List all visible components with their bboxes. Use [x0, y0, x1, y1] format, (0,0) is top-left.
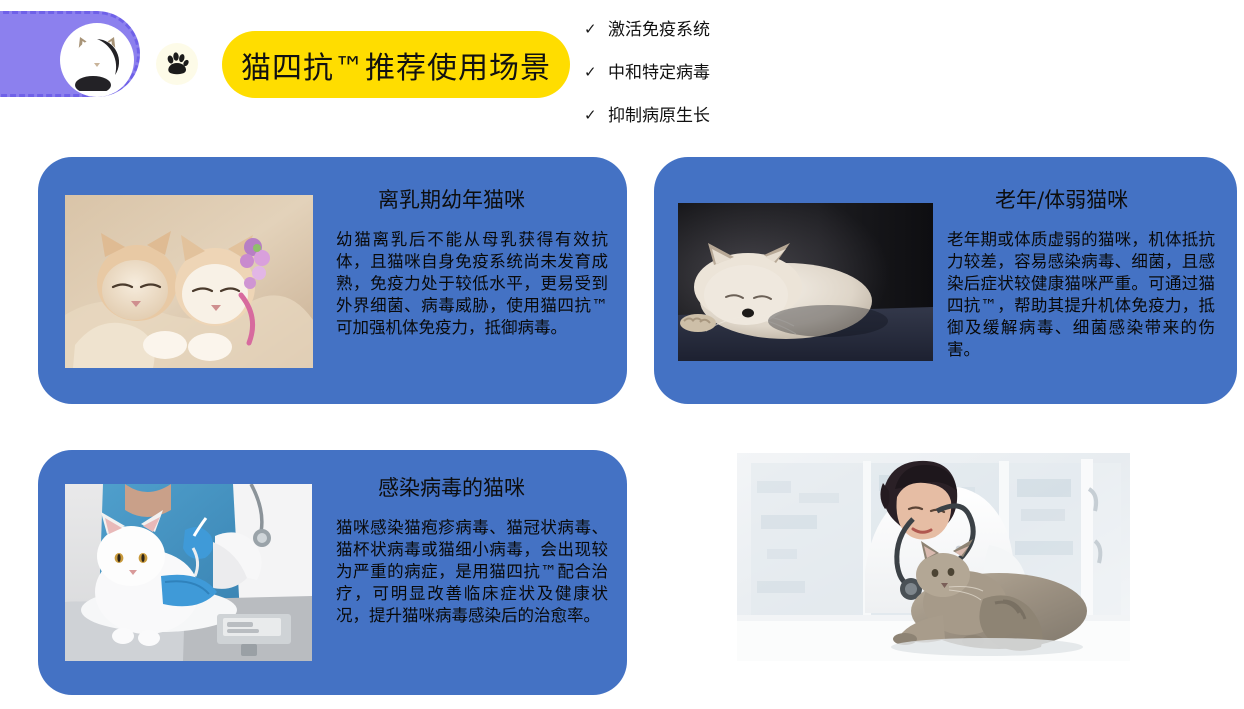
card-image	[678, 203, 933, 361]
card-body: 老年期或体质虚弱的猫咪，机体抵抗力较差，容易感染病毒、细菌，且感染后症状较健康猫…	[947, 229, 1215, 361]
two-sleeping-kittens-photo	[65, 195, 313, 368]
card-text-block: 离乳期幼年猫咪 幼猫离乳后不能从母乳获得有效抗体，且猫咪自身免疫系统尚未发育成熟…	[336, 188, 608, 339]
scenario-card: 感染病毒的猫咪 猫咪感染猫疱疹病毒、猫冠状病毒、猫杯状病毒或猫细小病毒，会出现较…	[38, 450, 627, 695]
slide-canvas: 猫四抗™推荐使用场景 ✓ 激活免疫系统 ✓ 中和特定病毒 ✓ 抑制病原生长	[0, 0, 1244, 709]
cat-receiving-injection-at-clinic-photo	[65, 484, 312, 661]
card-text-block: 老年/体弱猫咪 老年期或体质虚弱的猫咪，机体抵抗力较差，容易感染病毒、细菌，且感…	[947, 188, 1215, 361]
main-title-banner: 猫四抗™推荐使用场景	[222, 31, 570, 98]
check-icon: ✓	[584, 63, 608, 83]
card-title: 老年/体弱猫咪	[947, 188, 1215, 213]
benefit-label: 抑制病原生长	[608, 106, 710, 126]
benefit-label: 激活免疫系统	[608, 20, 710, 40]
veterinarian-examining-cat-photo	[737, 453, 1130, 661]
paw-badge	[156, 43, 198, 85]
card-image	[65, 195, 313, 368]
cat-face-logo-icon	[66, 29, 128, 91]
main-title-text: 猫四抗™推荐使用场景	[241, 43, 551, 87]
benefit-list: ✓ 激活免疫系统 ✓ 中和特定病毒 ✓ 抑制病原生长	[584, 20, 884, 149]
check-icon: ✓	[584, 20, 608, 40]
scenario-card: 离乳期幼年猫咪 幼猫离乳后不能从母乳获得有效抗体，且猫咪自身免疫系统尚未发育成熟…	[38, 157, 627, 404]
benefit-item: ✓ 抑制病原生长	[584, 106, 884, 126]
paw-print-icon	[164, 51, 190, 77]
card-body: 幼猫离乳后不能从母乳获得有效抗体，且猫咪自身免疫系统尚未发育成熟，免疫力处于较低…	[336, 229, 608, 339]
check-icon: ✓	[584, 106, 608, 126]
card-text-block: 感染病毒的猫咪 猫咪感染猫疱疹病毒、猫冠状病毒、猫杯状病毒或猫细小病毒，会出现较…	[336, 476, 608, 627]
sleeping-white-persian-cat-photo	[678, 203, 933, 361]
card-title: 离乳期幼年猫咪	[336, 188, 608, 213]
footer-photo	[737, 453, 1130, 661]
benefit-item: ✓ 激活免疫系统	[584, 20, 884, 40]
card-body: 猫咪感染猫疱疹病毒、猫冠状病毒、猫杯状病毒或猫细小病毒，会出现较为严重的病症，是…	[336, 517, 608, 627]
scenario-card: 老年/体弱猫咪 老年期或体质虚弱的猫咪，机体抵抗力较差，容易感染病毒、细菌，且感…	[654, 157, 1237, 404]
benefit-item: ✓ 中和特定病毒	[584, 63, 884, 83]
brand-logo	[60, 23, 134, 97]
benefit-label: 中和特定病毒	[608, 63, 710, 83]
card-image	[65, 484, 312, 661]
card-title: 感染病毒的猫咪	[336, 476, 608, 501]
